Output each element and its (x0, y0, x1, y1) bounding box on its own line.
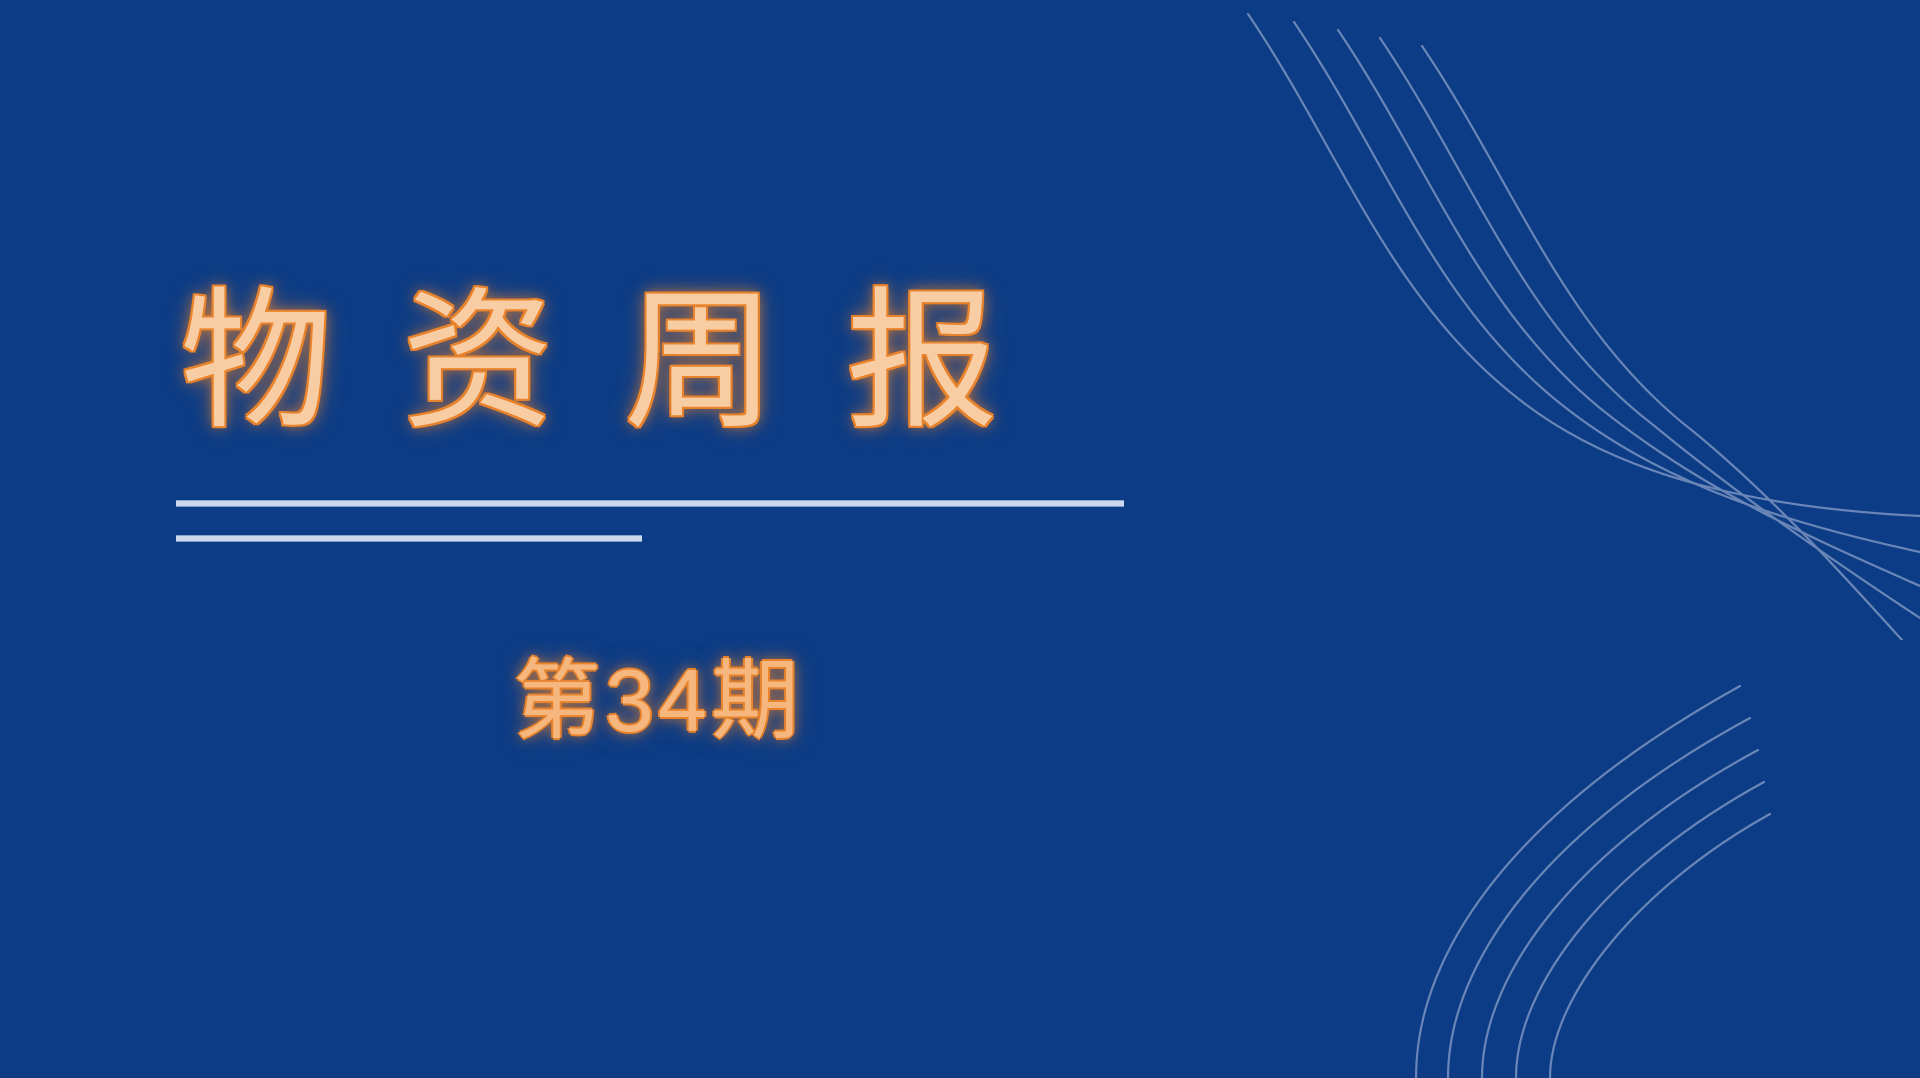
title-underline-short (176, 535, 642, 542)
issue-subtitle: 第34期 (513, 650, 803, 751)
title-underline-long (176, 500, 1124, 507)
title-underline-group (176, 500, 1276, 546)
arc-lines-bottom-right-icon (1220, 578, 1920, 1078)
page-title: 物资周报 (176, 286, 1276, 438)
wave-lines-top-right-icon (1220, 0, 1920, 640)
title-block: 物资周报 (176, 286, 1276, 438)
cover-slide: 物资周报 第34期 (0, 0, 1920, 1078)
